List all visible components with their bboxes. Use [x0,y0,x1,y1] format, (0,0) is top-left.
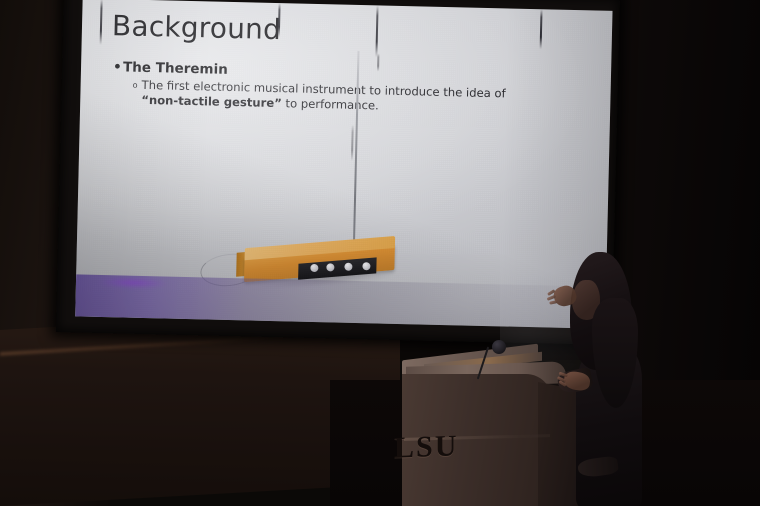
slide-title: Background [112,9,282,46]
slide-bullet-level2-line2-rest: to performance. [282,96,379,112]
presentation-photo-scene: Background •The Theremin oThe first elec… [0,0,760,506]
slide-bullet-level1-text: The Theremin [123,59,228,77]
microphone-head-icon [492,340,506,354]
cable-streak [540,9,542,49]
cable-streak [351,125,353,161]
podium-logo-lsu: LSU [394,428,484,465]
presenter-silhouette [536,252,652,506]
bullet-marker-icon: • [113,59,123,76]
presenter-finger [549,300,557,305]
cable-streak [100,0,103,45]
cable-streak [375,5,378,57]
slide-accent-highlight [98,277,168,289]
slide-bullet-level2-quoted: “non-tactile gesture” [141,93,282,110]
presentation-slide: Background •The Theremin oThe first elec… [75,0,612,329]
sub-bullet-marker-icon: o [132,81,141,92]
